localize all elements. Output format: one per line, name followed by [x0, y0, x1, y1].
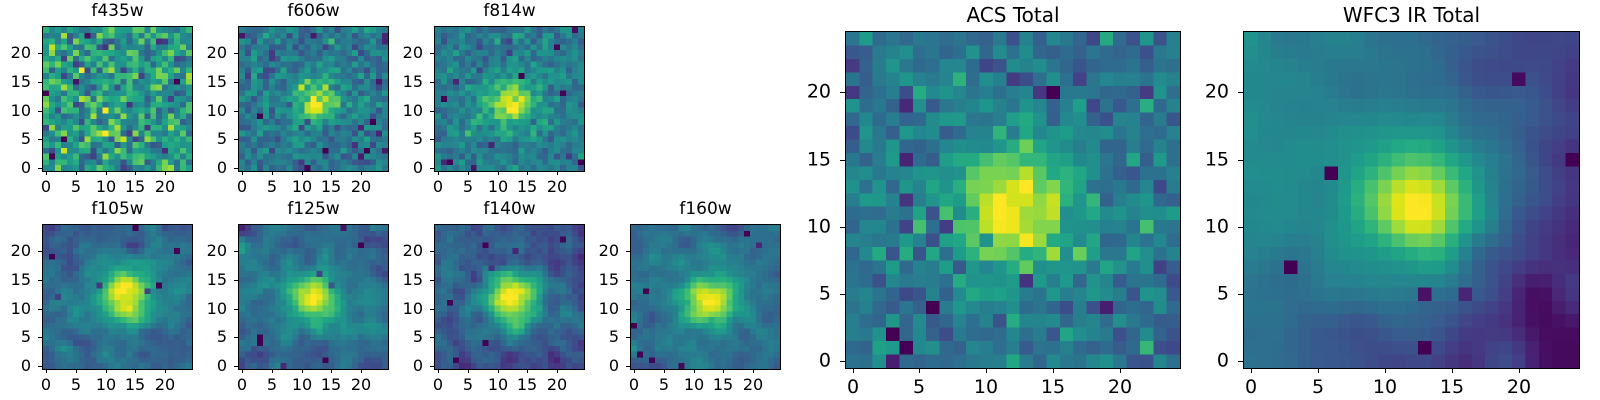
x-ticklabel-wfc3_ir_total-0: 0	[1245, 378, 1257, 397]
x-tick-wfc3_ir_total-15	[1452, 368, 1453, 373]
y-ticklabel-wfc3_ir_total-20: 20	[1183, 83, 1229, 102]
y-ticklabel-wfc3_ir_total-10: 10	[1183, 218, 1229, 237]
y-tick-wfc3_ir_total-10	[1238, 227, 1243, 228]
heatmap-canvas-wfc3_ir_total	[1244, 32, 1579, 368]
figure-canvas: f435w0510152005101520f606w05101520051015…	[0, 0, 1600, 400]
x-ticklabel-wfc3_ir_total-20: 20	[1507, 378, 1531, 397]
panel-title-wfc3_ir_total: WFC3 IR Total	[1243, 5, 1580, 25]
x-ticklabel-wfc3_ir_total-15: 15	[1440, 378, 1464, 397]
x-ticklabel-wfc3_ir_total-10: 10	[1373, 378, 1397, 397]
y-tick-wfc3_ir_total-15	[1238, 160, 1243, 161]
x-tick-wfc3_ir_total-5	[1318, 368, 1319, 373]
y-tick-wfc3_ir_total-20	[1238, 92, 1243, 93]
y-ticklabel-wfc3_ir_total-5: 5	[1183, 285, 1229, 304]
y-tick-wfc3_ir_total-5	[1238, 294, 1243, 295]
x-tick-wfc3_ir_total-0	[1251, 368, 1252, 373]
y-tick-wfc3_ir_total-0	[1238, 361, 1243, 362]
y-ticklabel-wfc3_ir_total-0: 0	[1183, 352, 1229, 371]
x-tick-wfc3_ir_total-20	[1519, 368, 1520, 373]
panel-wfc3_ir_total: WFC3 IR Total0510152005101520	[0, 0, 1600, 400]
heatmap-wfc3_ir_total	[1243, 31, 1580, 369]
x-tick-wfc3_ir_total-10	[1385, 368, 1386, 373]
y-ticklabel-wfc3_ir_total-15: 15	[1183, 151, 1229, 170]
x-ticklabel-wfc3_ir_total-5: 5	[1312, 378, 1324, 397]
